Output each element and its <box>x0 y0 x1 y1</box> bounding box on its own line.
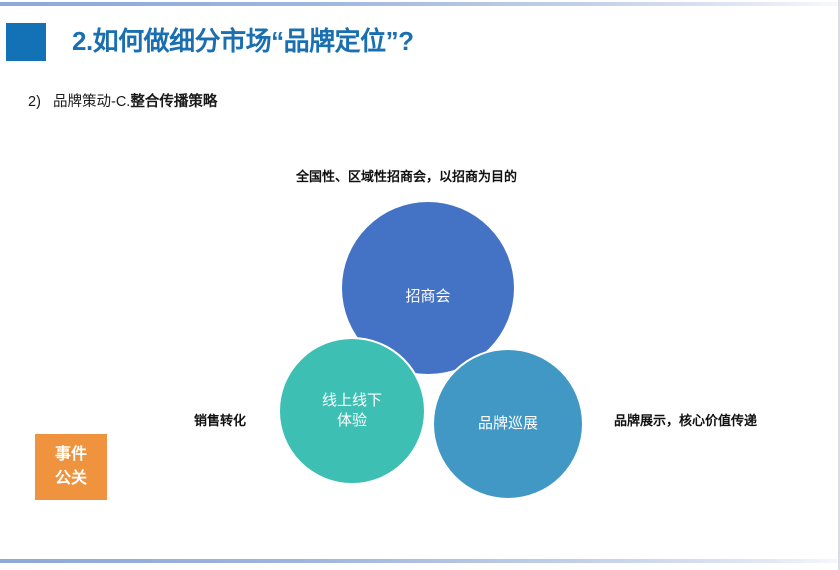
circle-xianshangxianxia-label-line1: 线上线下 <box>322 392 382 409</box>
caption-top: 全国性、区域性招商会，以招商为目的 <box>296 166 517 185</box>
tag-line1: 事件 <box>55 443 87 467</box>
venn-diagram: 全国性、区域性招商会，以招商为目的 销售转化 品牌展示，核心价值传递 招商会 线… <box>0 0 840 570</box>
circle-pinpaixunzhan[interactable]: 品牌巡展 <box>432 348 584 500</box>
circle-xianshangxianxia-label: 线上线下 体验 <box>322 391 382 431</box>
tag-shijian-gongguan[interactable]: 事件 公关 <box>35 434 107 500</box>
tag-line2: 公关 <box>55 467 87 491</box>
circle-zhaoshanghui-label: 招商会 <box>405 287 450 307</box>
circle-pinpaixunzhan-label: 品牌巡展 <box>478 414 538 434</box>
caption-left: 销售转化 <box>194 410 246 429</box>
caption-right: 品牌展示，核心价值传递 <box>614 410 757 429</box>
circle-xianshangxianxia[interactable]: 线上线下 体验 <box>278 337 426 485</box>
circle-xianshangxianxia-label-line2: 体验 <box>337 412 367 429</box>
